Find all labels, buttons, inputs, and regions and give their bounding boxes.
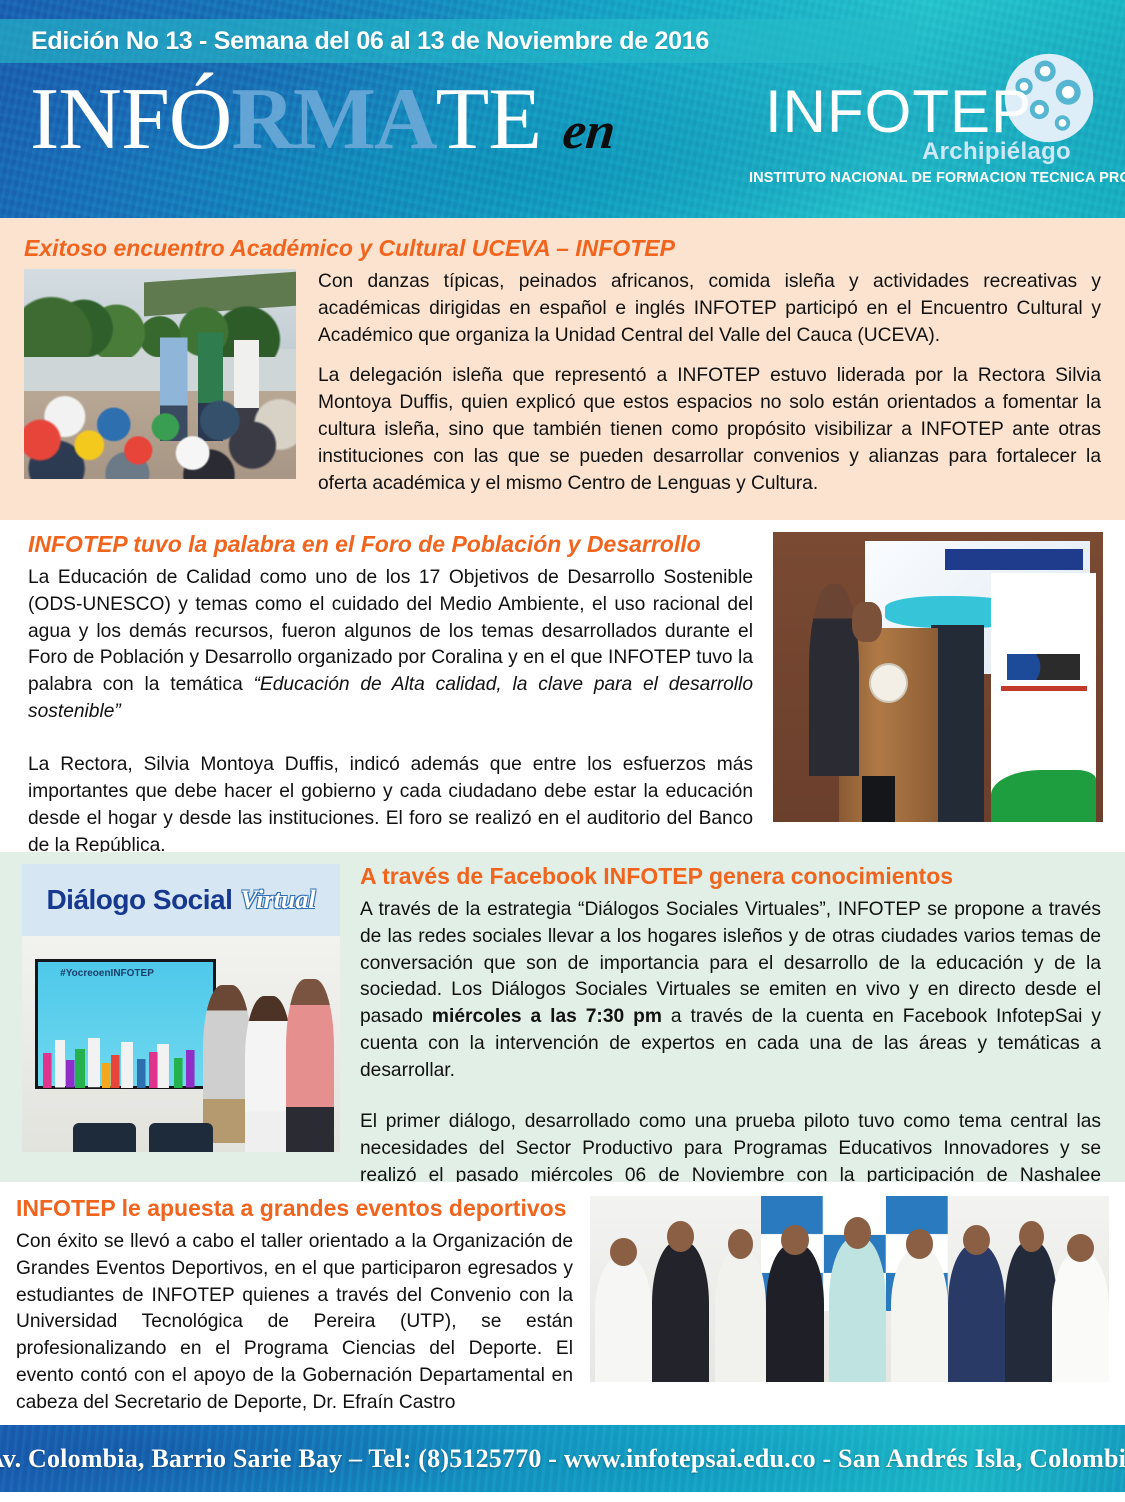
- wordmark-part-3: TE: [436, 78, 542, 162]
- article-foro-paragraph-2: La Rectora, Silvia Montoya Duffis, indic…: [28, 752, 753, 860]
- article-facebook-photo: Diálogo Social Virtual #YocreoenINFOTEP: [22, 864, 340, 1152]
- article-uceva-paragraph-1: Con danzas típicas, peinados africanos, …: [318, 269, 1101, 350]
- infotep-logo: INFOTEP Archipiélago INSTITUTO NACIONAL …: [747, 50, 1107, 202]
- article-deportes-text-column: INFOTEP le apuesta a grandes eventos dep…: [16, 1196, 573, 1417]
- article-deportes-heading: INFOTEP le apuesta a grandes eventos dep…: [16, 1196, 573, 1222]
- article-deportes-photo: [590, 1196, 1109, 1382]
- wordmark-en: en: [560, 106, 617, 158]
- article-uceva-photo: [24, 269, 296, 479]
- article-facebook-p1-bold: miércoles a las 7:30 pm: [432, 1006, 662, 1027]
- infotep-subtitle: INSTITUTO NACIONAL DE FORMACION TECNICA …: [749, 170, 1125, 186]
- article-foro-text-column: INFOTEP tuvo la palabra en el Foro de Po…: [28, 532, 753, 860]
- article-foro-heading: INFOTEP tuvo la palabra en el Foro de Po…: [28, 532, 753, 558]
- article-deportes-body: Con éxito se llevó a cabo el taller orie…: [16, 1229, 573, 1417]
- dialogo-social-caption: Diálogo Social: [46, 884, 232, 916]
- article-facebook-paragraph-1: A través de la estrategia “Diálogos Soci…: [360, 897, 1101, 1085]
- wordmark-part-2: RMA: [231, 78, 435, 162]
- newsletter-footer: Av. Colombia, Barrio Sarie Bay – Tel: (8…: [0, 1425, 1125, 1492]
- article-facebook: Diálogo Social Virtual #YocreoenINFOTEP …: [0, 852, 1125, 1182]
- article-uceva: Exitoso encuentro Académico y Cultural U…: [0, 218, 1125, 520]
- wordmark-part-1: INFÓ: [30, 78, 231, 162]
- article-facebook-text-column: A través de Facebook INFOTEP genera cono…: [360, 864, 1101, 1216]
- article-foro-paragraph-1: La Educación de Calidad como uno de los …: [28, 565, 753, 726]
- screen-hashtag: #YocreoenINFOTEP: [60, 968, 154, 979]
- newsletter-page: Edición No 13 - Semana del 06 al 13 de N…: [0, 0, 1125, 1502]
- article-foro-body: La Educación de Calidad como uno de los …: [28, 565, 753, 860]
- newsletter-header: Edición No 13 - Semana del 06 al 13 de N…: [0, 0, 1125, 218]
- article-facebook-heading: A través de Facebook INFOTEP genera cono…: [360, 864, 1101, 890]
- article-foro: INFOTEP tuvo la palabra en el Foro de Po…: [0, 520, 1125, 852]
- article-deportes: INFOTEP le apuesta a grandes eventos dep…: [0, 1182, 1125, 1425]
- article-foro-photo: [773, 532, 1103, 822]
- article-deportes-paragraph-1: Con éxito se llevó a cabo el taller orie…: [16, 1229, 573, 1417]
- footer-contact-text: Av. Colombia, Barrio Sarie Bay – Tel: (8…: [0, 1444, 1125, 1474]
- informate-wordmark: INFÓ RMA TE en: [30, 78, 615, 162]
- edition-text: Edición No 13 - Semana del 06 al 13 de N…: [0, 27, 709, 56]
- article-facebook-body: A través de la estrategia “Diálogos Soci…: [360, 897, 1101, 1217]
- article-uceva-heading: Exitoso encuentro Académico y Cultural U…: [24, 236, 1101, 262]
- virtual-caption: Virtual: [240, 885, 315, 915]
- infotep-archipielago: Archipiélago: [922, 138, 1071, 166]
- article-uceva-paragraph-2: La delegación isleña que representó a IN…: [318, 363, 1101, 497]
- article-uceva-body: Con danzas típicas, peinados africanos, …: [318, 269, 1101, 498]
- infotep-wordmark: INFOTEP: [765, 82, 1032, 142]
